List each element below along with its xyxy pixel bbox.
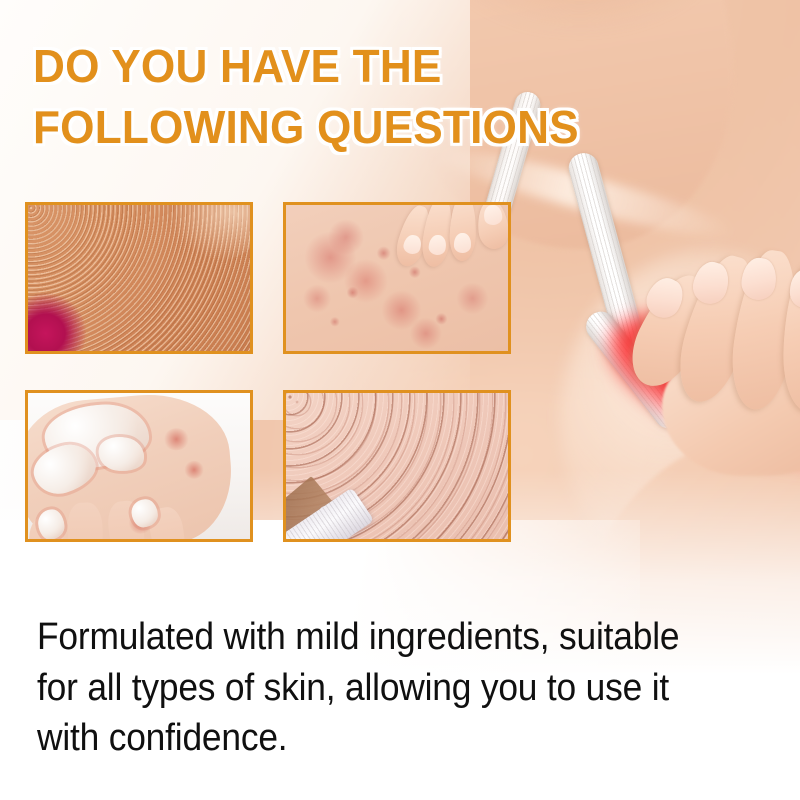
- psoriasis-hand-photo: [28, 393, 250, 539]
- scratching-hand: [640, 250, 800, 480]
- symptom-tile-bumpy-skin: [25, 202, 253, 354]
- symptom-tile-acne-back: [283, 202, 511, 354]
- psoriasis-red-spot-1: [162, 427, 190, 451]
- symptom-tile-clogged-pores: [283, 390, 511, 542]
- psoriasis-red-spot-2: [183, 460, 204, 480]
- advertisement-banner: DO YOU HAVE THE FOLLOWING QUESTIONS: [0, 0, 800, 800]
- psoriasis-finger-2: [67, 502, 105, 542]
- symptom-photo-grid: [25, 202, 505, 542]
- acne-fingernail-3: [454, 233, 472, 254]
- clogged-pores-photo: [286, 393, 508, 539]
- product-description: Formulated with mild ingredients, suitab…: [37, 612, 716, 764]
- psoriasis-hand-shape: [25, 390, 237, 542]
- symptom-tile-psoriasis-hand: [25, 390, 253, 542]
- acne-back-photo: [286, 205, 508, 351]
- acne-photo-hand: [394, 202, 511, 281]
- bumpy-skin-photo: [28, 205, 250, 351]
- page-title: DO YOU HAVE THE FOLLOWING QUESTIONS: [33, 36, 705, 157]
